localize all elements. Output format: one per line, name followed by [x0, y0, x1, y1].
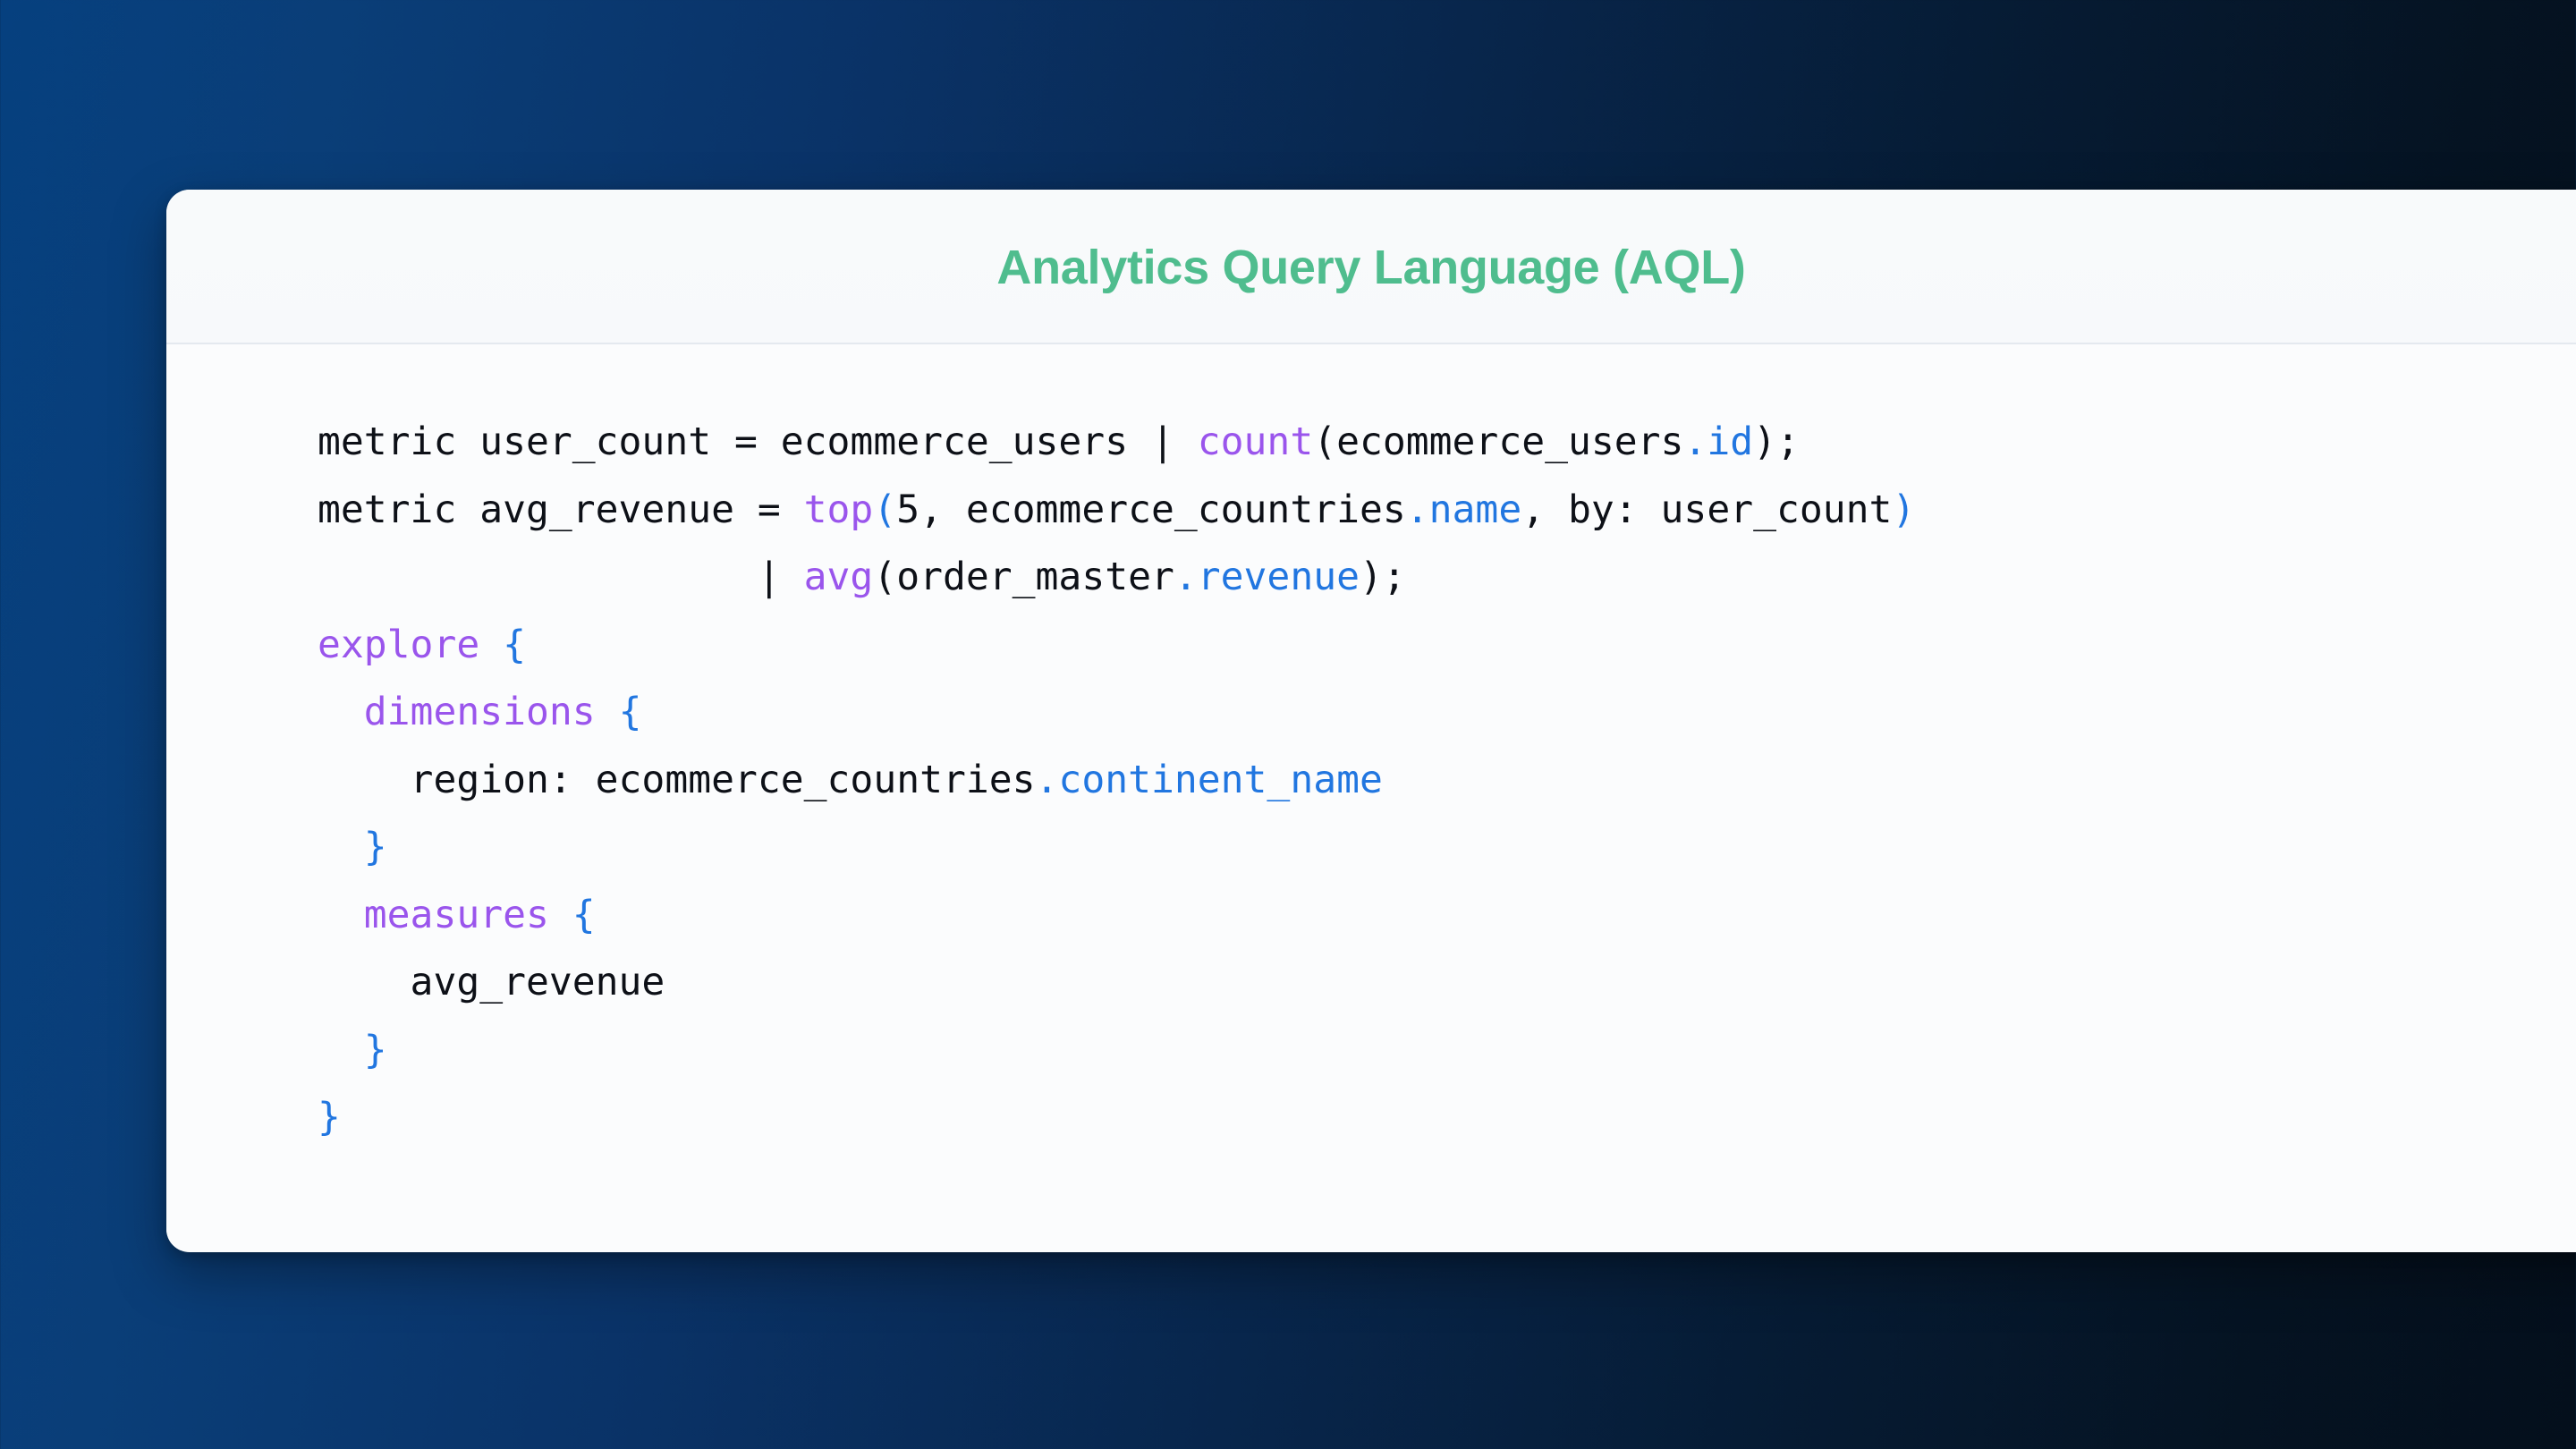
code-token-plain	[318, 1028, 364, 1072]
code-token-keyword: dimensions	[364, 690, 596, 734]
code-line: measures {	[318, 882, 2576, 950]
code-token-plain	[549, 893, 572, 937]
code-token-field: .revenue	[1174, 555, 1360, 599]
code-token-plain	[318, 825, 364, 869]
code-token-bracket: }	[364, 825, 387, 869]
code-token-plain: |	[318, 555, 804, 599]
code-token-field: .continent_name	[1036, 758, 1383, 802]
code-line: }	[318, 1017, 2576, 1085]
code-token-function: count	[1198, 419, 1313, 464]
code-line: }	[318, 814, 2576, 882]
aql-code-block[interactable]: metric user_count = ecommerce_users | co…	[166, 409, 2576, 1152]
code-line: | avg(order_master.revenue);	[318, 544, 2576, 612]
code-token-function: avg	[804, 555, 874, 599]
code-line: metric avg_revenue = top(5, ecommerce_co…	[318, 477, 2576, 545]
code-token-plain: metric user_count = ecommerce_users |	[318, 419, 1198, 464]
code-token-field: .name	[1406, 487, 1521, 532]
code-token-function: top	[804, 487, 874, 532]
code-line: explore {	[318, 612, 2576, 680]
code-token-plain: (ecommerce_users	[1313, 419, 1683, 464]
card-header: Analytics Query Language (AQL)	[166, 190, 2576, 344]
code-token-plain: , by: user_count	[1521, 487, 1892, 532]
code-token-bracket: )	[1892, 487, 1915, 532]
code-token-plain	[318, 690, 364, 734]
page-title: Analytics Query Language (AQL)	[166, 190, 2576, 344]
code-token-plain	[318, 893, 364, 937]
code-panel: metric user_count = ecommerce_users | co…	[166, 344, 2576, 1250]
code-token-plain: );	[1753, 419, 1800, 464]
code-token-plain: region: ecommerce_countries	[318, 758, 1036, 802]
code-token-field: .id	[1683, 419, 1753, 464]
code-token-bracket: {	[572, 893, 596, 937]
code-token-keyword: explore	[318, 623, 479, 667]
code-token-bracket: {	[619, 690, 642, 734]
code-line: region: ecommerce_countries.continent_na…	[318, 747, 2576, 815]
code-token-bracket: }	[318, 1095, 341, 1140]
code-token-plain	[596, 690, 619, 734]
code-token-plain: (order_master	[873, 555, 1174, 599]
code-token-plain: 5, ecommerce_countries	[896, 487, 1406, 532]
code-token-plain: );	[1360, 555, 1406, 599]
code-token-bracket: (	[873, 487, 896, 532]
code-token-bracket: }	[364, 1028, 387, 1072]
code-token-keyword: measures	[364, 893, 549, 937]
screenshot-root: Analytics Query Language (AQL) metric us…	[0, 0, 2576, 1449]
code-token-plain: avg_revenue	[318, 960, 665, 1004]
code-line: avg_revenue	[318, 949, 2576, 1017]
code-line: metric user_count = ecommerce_users | co…	[318, 409, 2576, 477]
code-token-bracket: {	[503, 623, 526, 667]
code-line: }	[318, 1084, 2576, 1152]
aql-card: Analytics Query Language (AQL) metric us…	[166, 190, 2576, 1252]
code-token-plain: metric avg_revenue =	[318, 487, 804, 532]
code-line: dimensions {	[318, 679, 2576, 747]
code-token-plain	[479, 623, 503, 667]
